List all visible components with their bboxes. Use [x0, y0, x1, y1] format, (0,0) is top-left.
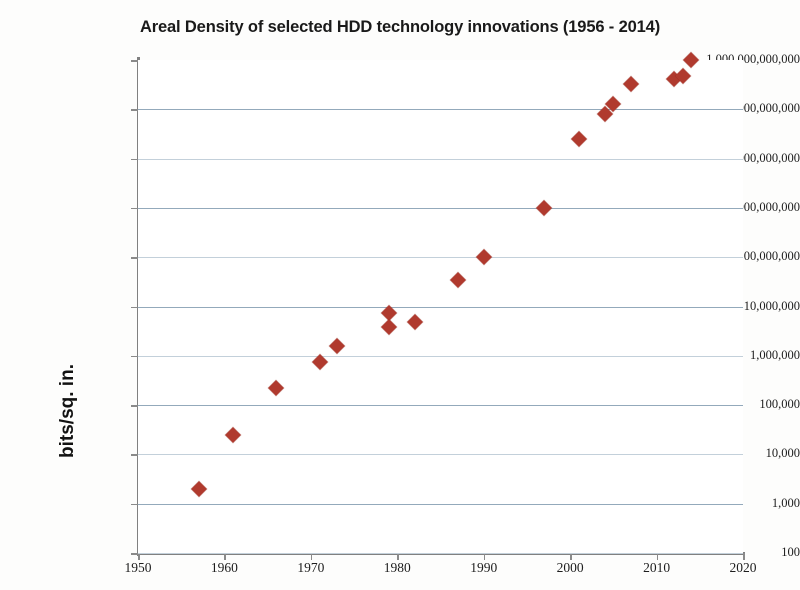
x-tick-label: 1980 — [367, 560, 427, 576]
y-tick — [131, 405, 138, 407]
gridline — [138, 307, 743, 308]
gridline — [138, 405, 743, 406]
data-point — [191, 481, 207, 497]
x-tick — [743, 553, 745, 560]
y-tick — [131, 257, 138, 259]
gridline — [138, 208, 743, 209]
x-tick — [311, 553, 313, 560]
data-point — [536, 200, 552, 216]
x-tick — [484, 553, 486, 560]
gridline — [138, 356, 743, 357]
gridline — [138, 109, 743, 110]
x-tick — [570, 553, 572, 560]
data-point — [571, 131, 587, 147]
chart-container: Areal Density of selected HDD technology… — [0, 0, 800, 590]
y-tick — [131, 307, 138, 309]
y-tick — [131, 159, 138, 161]
y-axis-title: bits/sq. in. — [57, 321, 79, 501]
x-tick-label: 1970 — [281, 560, 341, 576]
y-tick — [131, 356, 138, 358]
gridline — [138, 504, 743, 505]
gridline — [138, 553, 743, 554]
x-tick — [224, 553, 226, 560]
x-tick-label: 2020 — [713, 560, 773, 576]
x-tick-label: 2010 — [627, 560, 687, 576]
data-point — [329, 338, 345, 354]
gridline — [138, 159, 743, 160]
y-tick — [131, 454, 138, 456]
data-point — [450, 272, 466, 288]
x-tick — [397, 553, 399, 560]
x-tick — [138, 553, 140, 560]
y-tick — [131, 208, 138, 210]
gridline — [138, 454, 743, 455]
x-tick — [657, 553, 659, 560]
data-point — [407, 314, 423, 330]
data-point — [225, 427, 241, 443]
plot-area — [138, 60, 743, 553]
y-tick — [131, 553, 138, 555]
data-point — [623, 77, 639, 93]
y-tick — [131, 60, 138, 62]
gridline — [138, 257, 743, 258]
data-point — [269, 380, 285, 396]
x-tick-label: 1990 — [454, 560, 514, 576]
data-point — [381, 319, 397, 335]
x-tick-label: 1950 — [108, 560, 168, 576]
chart-title: Areal Density of selected HDD technology… — [0, 18, 800, 37]
y-tick — [131, 504, 138, 506]
data-point — [476, 249, 492, 265]
y-tick — [131, 109, 138, 111]
x-tick-label: 2000 — [540, 560, 600, 576]
x-tick-label: 1960 — [194, 560, 254, 576]
